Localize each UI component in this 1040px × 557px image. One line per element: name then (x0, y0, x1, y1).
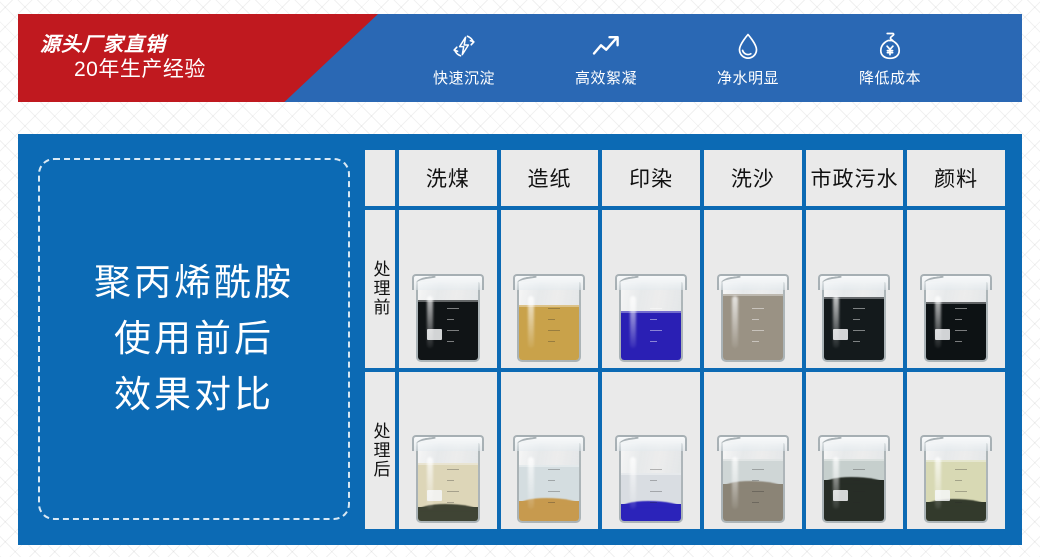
glass-highlight (528, 296, 534, 348)
beaker-spout (822, 437, 843, 448)
column-header-5: 颜料 (907, 150, 1005, 206)
row-header-1: 处理后 (365, 372, 395, 530)
beaker-glass (822, 443, 886, 523)
beaker-rim (920, 274, 992, 290)
beaker-graphic (920, 274, 992, 362)
beaker-glass (924, 282, 988, 362)
graduation-marks (853, 308, 875, 354)
glass-highlight (833, 296, 839, 348)
beaker-glass (822, 282, 886, 362)
header-red-banner: 源头厂家直销 20年生产经验 (18, 14, 378, 102)
promo-callout-box: 聚丙烯酰胺 使用前后 效果对比 (38, 158, 350, 520)
beaker-spout (619, 437, 640, 448)
graduation-marks (955, 469, 977, 515)
row-header-0: 处理前 (365, 210, 395, 368)
beaker-graphic (513, 274, 585, 362)
comparison-table: 洗煤造纸印染洗沙市政污水颜料处理前处理后 (365, 150, 1005, 529)
feature-item-lower-cost[interactable]: 降低成本 (842, 29, 938, 88)
beaker-after-papermaking (501, 372, 599, 530)
glass-highlight (732, 457, 738, 509)
beaker-spout (517, 437, 538, 448)
beaker-graphic (615, 274, 687, 362)
glass-highlight (630, 457, 636, 509)
header-bar: 源头厂家直销 20年生产经验 快速沉淀 (18, 14, 1022, 102)
beaker-graphic (818, 274, 890, 362)
beaker-graphic (513, 435, 585, 523)
beaker-rim (513, 435, 585, 451)
beaker-glass (721, 443, 785, 523)
promo-line-2: 使用前后 (114, 316, 274, 362)
glass-highlight (732, 296, 738, 348)
feature-item-high-flocculation[interactable]: 高效絮凝 (558, 29, 654, 88)
graduation-marks (752, 308, 774, 354)
beaker-before-coal-washing (399, 210, 497, 368)
beaker-spout (924, 275, 945, 286)
beaker-after-pigment (907, 372, 1005, 530)
beaker-rim (818, 274, 890, 290)
money-bag-yuan-icon (875, 29, 905, 63)
beaker-glass (721, 282, 785, 362)
column-header-0: 洗煤 (399, 150, 497, 206)
banner-headline-secondary: 20年生产经验 (40, 57, 378, 82)
graduation-marks (853, 469, 875, 515)
banner-headline-primary: 源头厂家直销 (40, 34, 378, 57)
graduation-marks (548, 308, 570, 354)
glass-highlight (935, 296, 941, 348)
beaker-glass (619, 282, 683, 362)
beaker-glass (517, 443, 581, 523)
beaker-graphic (717, 274, 789, 362)
beaker-graphic (920, 435, 992, 523)
graduation-marks (650, 308, 672, 354)
beaker-after-coal-washing (399, 372, 497, 530)
beaker-spout (822, 275, 843, 286)
glass-highlight (833, 457, 839, 509)
graduation-marks (955, 308, 977, 354)
beaker-rim (615, 435, 687, 451)
beaker-rim (920, 435, 992, 451)
graduation-marks (548, 469, 570, 515)
beaker-spout (415, 437, 436, 448)
beaker-glass (416, 443, 480, 523)
beaker-after-sand-washing (704, 372, 802, 530)
beaker-graphic (412, 274, 484, 362)
graduation-marks (447, 469, 469, 515)
beaker-glass (619, 443, 683, 523)
glass-highlight (427, 296, 433, 348)
lightning-refresh-icon (448, 29, 480, 63)
column-header-3: 洗沙 (704, 150, 802, 206)
trend-up-arrow-icon (589, 29, 623, 63)
beaker-before-pigment (907, 210, 1005, 368)
beaker-rim (717, 435, 789, 451)
beaker-spout (619, 275, 640, 286)
beaker-rim (717, 274, 789, 290)
feature-label: 高效絮凝 (575, 67, 637, 88)
column-header-1: 造纸 (501, 150, 599, 206)
beaker-rim (412, 274, 484, 290)
beaker-rim (412, 435, 484, 451)
header-feature-list: 快速沉淀 高效絮凝 净水明显 (378, 14, 1022, 102)
graduation-marks (447, 308, 469, 354)
beaker-graphic (615, 435, 687, 523)
beaker-after-municipal-sewage (806, 372, 904, 530)
comparison-panel: 聚丙烯酰胺 使用前后 效果对比 洗煤造纸印染洗沙市政污水颜料处理前处理后 (18, 134, 1022, 545)
graduation-marks (752, 469, 774, 515)
beaker-before-sand-washing (704, 210, 802, 368)
feature-label: 净水明显 (717, 67, 779, 88)
beaker-spout (924, 437, 945, 448)
feature-item-fast-settling[interactable]: 快速沉淀 (416, 29, 512, 88)
glass-highlight (427, 457, 433, 509)
feature-label: 降低成本 (859, 67, 921, 88)
beaker-glass (517, 282, 581, 362)
table-corner-cell (365, 150, 395, 206)
beaker-spout (415, 275, 436, 286)
beaker-graphic (717, 435, 789, 523)
feature-label: 快速沉淀 (433, 67, 495, 88)
column-header-4: 市政污水 (806, 150, 904, 206)
beaker-spout (720, 275, 741, 286)
beaker-before-municipal-sewage (806, 210, 904, 368)
beaker-spout (517, 275, 538, 286)
glass-highlight (935, 457, 941, 509)
beaker-graphic (412, 435, 484, 523)
beaker-before-papermaking (501, 210, 599, 368)
glass-highlight (630, 296, 636, 348)
graduation-marks (650, 469, 672, 515)
glass-highlight (528, 457, 534, 509)
water-drop-icon (734, 29, 762, 63)
beaker-before-dyeing (602, 210, 700, 368)
column-header-2: 印染 (602, 150, 700, 206)
beaker-rim (615, 274, 687, 290)
promo-line-1: 聚丙烯酰胺 (94, 260, 294, 306)
beaker-glass (416, 282, 480, 362)
beaker-rim (513, 274, 585, 290)
promo-line-3: 效果对比 (114, 372, 274, 418)
beaker-glass (924, 443, 988, 523)
beaker-spout (720, 437, 741, 448)
feature-item-clear-water[interactable]: 净水明显 (700, 29, 796, 88)
beaker-rim (818, 435, 890, 451)
beaker-graphic (818, 435, 890, 523)
beaker-after-dyeing (602, 372, 700, 530)
